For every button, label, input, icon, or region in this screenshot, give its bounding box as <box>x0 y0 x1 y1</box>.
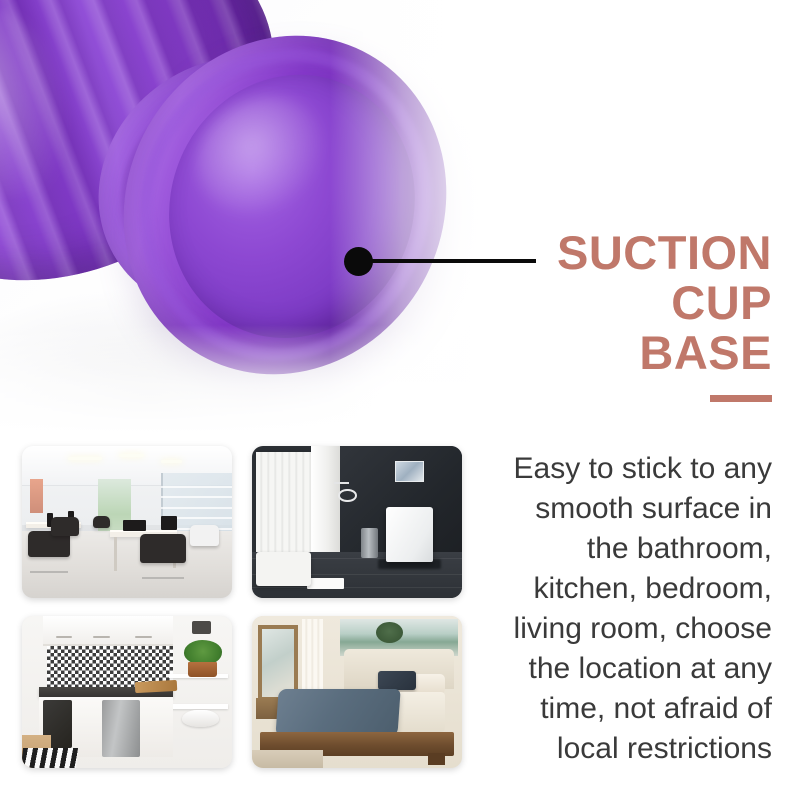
headline-line-3: BASE <box>442 328 772 378</box>
kitchen-cabinet-handle <box>135 636 152 638</box>
kitchen-cabinet-handle <box>93 636 110 638</box>
kitchen-shelf <box>169 704 228 709</box>
bedroom-pillow-navy <box>378 671 416 691</box>
bathroom-waste-bin <box>361 528 378 558</box>
feature-description-line: time, not afraid of <box>452 689 772 729</box>
office-wall-art <box>30 479 43 512</box>
office-blind-slat <box>161 507 232 509</box>
product-feature-page: SUCTION CUP BASE <box>0 0 800 800</box>
usage-scene-thumbnail-grid <box>22 446 462 768</box>
bedroom-duvet <box>275 689 400 738</box>
kitchen-dishwasher <box>102 700 140 758</box>
feature-description-line: smooth surface in <box>452 489 772 529</box>
kitchen-kettle <box>192 621 211 635</box>
suction-cup-base-marker-icon <box>344 247 373 276</box>
headline: SUCTION CUP BASE <box>442 228 772 402</box>
kitchen-plant-pot <box>188 662 217 677</box>
office-chair-base <box>30 571 68 573</box>
feature-description-line: Easy to stick to any <box>452 449 772 489</box>
bathroom-bath-mat <box>256 552 311 585</box>
bathroom-toilet-paper <box>338 489 357 503</box>
bathroom-scene <box>252 446 462 598</box>
office-monitor <box>161 516 178 530</box>
feature-description-line: the location at any <box>452 649 772 689</box>
bathroom-paper-holder-arm <box>334 482 349 484</box>
feature-description-line: the bathroom, <box>452 529 772 569</box>
kitchen-casserole-dish <box>182 710 220 727</box>
feature-description-line: kitchen, bedroom, <box>452 569 772 609</box>
office-chair <box>140 534 186 563</box>
office-blind-slat <box>161 486 232 488</box>
thumbnail-bathroom[interactable] <box>252 446 462 598</box>
bedroom-rug <box>252 750 323 768</box>
headline-accent-rule <box>710 395 772 402</box>
headline-line-2: CUP <box>442 278 772 328</box>
bathroom-shower-curtain <box>256 452 311 558</box>
office-ceiling-light <box>68 457 102 460</box>
feature-description: Easy to stick to any smooth surface in t… <box>452 449 772 769</box>
office-chair <box>51 517 78 535</box>
bathroom-wall-art <box>395 461 424 482</box>
office-chair-white <box>190 525 219 546</box>
feature-description-line: living room, choose <box>452 609 772 649</box>
bedroom-curtain <box>302 619 323 692</box>
office-chair-base <box>142 577 184 579</box>
office-monitor <box>123 520 146 531</box>
thumbnail-office[interactable] <box>22 446 232 598</box>
bedroom-scene <box>252 616 462 768</box>
thumbnail-bedroom[interactable] <box>252 616 462 768</box>
kitchen-striped-rug <box>22 748 78 768</box>
bedroom-bed-foot <box>428 753 445 765</box>
kitchen-scene <box>22 616 232 768</box>
feature-description-line: local restrictions <box>452 729 772 769</box>
office-scene <box>22 446 232 598</box>
bathroom-toilet <box>386 507 432 562</box>
office-blind-slat <box>161 496 232 498</box>
kitchen-potted-herbs <box>184 640 222 664</box>
kitchen-upper-cabinets <box>43 616 173 646</box>
office-chair <box>93 516 110 528</box>
thumbnail-kitchen[interactable] <box>22 616 232 768</box>
kitchen-cabinet-handle <box>56 636 73 638</box>
bathroom-tile-line <box>252 587 462 588</box>
office-desk-leg <box>114 537 117 570</box>
headline-line-1: SUCTION <box>442 228 772 278</box>
bathroom-column-base <box>307 578 345 589</box>
office-ceiling-light <box>161 460 182 463</box>
office-ceiling-light <box>119 454 144 457</box>
